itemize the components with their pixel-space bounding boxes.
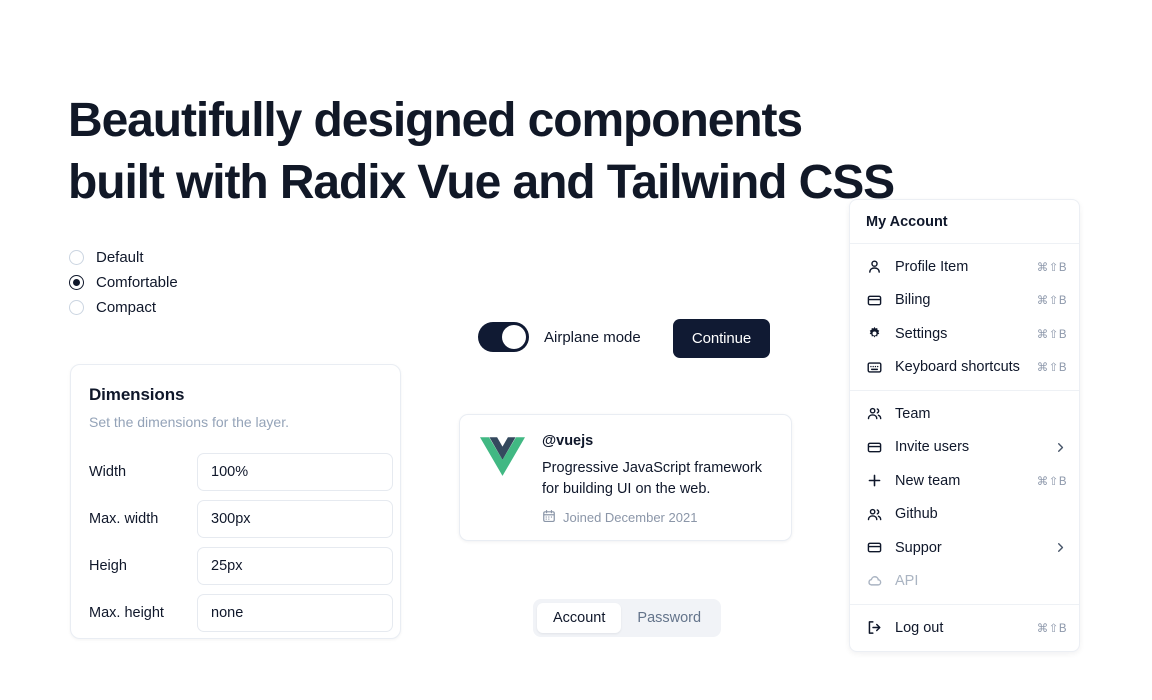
radio-option-comfortable[interactable]: Comfortable	[69, 270, 299, 295]
vue-hover-card: @vuejs Progressive JavaScript framework …	[459, 414, 792, 541]
hover-card-body: @vuejs Progressive JavaScript framework …	[542, 433, 782, 540]
menu-item-profile[interactable]: Profile Item ⌘⇧B	[850, 250, 1079, 284]
menu-item-github[interactable]: Github	[850, 498, 1079, 532]
settings-tabs: Account Password	[533, 599, 721, 637]
page-title: Beautifully designed components built wi…	[68, 90, 1028, 214]
users-icon	[866, 405, 883, 422]
tab-password[interactable]: Password	[621, 603, 717, 633]
field-label-height: Heigh	[89, 558, 197, 574]
vue-joined-row: Joined December 2021	[542, 509, 782, 526]
credit-card-icon	[866, 292, 883, 309]
menu-item-new-team[interactable]: New team ⌘⇧B	[850, 464, 1079, 498]
field-label-width: Width	[89, 464, 197, 480]
keyboard-icon	[866, 359, 883, 376]
radio-label-comfortable: Comfortable	[96, 274, 178, 291]
menu-item-settings-shortcut: ⌘⇧B	[1037, 327, 1067, 341]
menu-item-settings-label: Settings	[895, 326, 1037, 342]
menu-item-profile-shortcut: ⌘⇧B	[1037, 260, 1067, 274]
menu-item-log-out[interactable]: Log out ⌘⇧B	[850, 611, 1079, 645]
credit-card-icon	[866, 439, 883, 456]
page-title-line-1: Beautifully designed components	[68, 90, 1028, 152]
radio-indicator-compact[interactable]	[69, 300, 84, 315]
menu-header: My Account	[850, 200, 1079, 243]
radio-label-compact: Compact	[96, 299, 156, 316]
switch-knob	[502, 325, 526, 349]
menu-item-support-label: Suppor	[895, 540, 1054, 556]
menu-item-invite-users-label: Invite users	[895, 439, 1054, 455]
radio-indicator-default[interactable]	[69, 250, 84, 265]
vue-joined-text: Joined December 2021	[563, 510, 697, 525]
menu-group-team: Team Invite users New team ⌘⇧B	[850, 391, 1079, 604]
logout-icon	[866, 619, 883, 636]
menu-item-invite-users[interactable]: Invite users	[850, 431, 1079, 465]
menu-item-keyboard-shortcuts-shortcut: ⌘⇧B	[1037, 360, 1067, 374]
menu-item-new-team-label: New team	[895, 473, 1037, 489]
gear-icon	[866, 325, 883, 342]
field-row-max-height: Max. height	[89, 589, 382, 636]
vue-description: Progressive JavaScript framework for bui…	[542, 458, 782, 500]
airplane-mode-label: Airplane mode	[544, 329, 641, 346]
menu-item-settings[interactable]: Settings ⌘⇧B	[850, 317, 1079, 351]
menu-item-team-label: Team	[895, 406, 1067, 422]
tab-account[interactable]: Account	[537, 603, 621, 633]
menu-item-team[interactable]: Team	[850, 397, 1079, 431]
width-input[interactable]	[197, 453, 393, 491]
menu-item-api: API	[850, 565, 1079, 599]
airplane-mode-switch[interactable]	[478, 322, 529, 352]
menu-item-log-out-shortcut: ⌘⇧B	[1037, 621, 1067, 635]
vue-handle: @vuejs	[542, 433, 782, 449]
menu-item-github-label: Github	[895, 506, 1067, 522]
menu-item-api-label: API	[895, 573, 1067, 589]
menu-group-account: Profile Item ⌘⇧B Biling ⌘⇧B	[850, 244, 1079, 390]
max-height-input[interactable]	[197, 594, 393, 632]
menu-item-keyboard-shortcuts-label: Keyboard shortcuts	[895, 359, 1037, 375]
airplane-mode-row: Airplane mode	[478, 322, 641, 352]
menu-item-new-team-shortcut: ⌘⇧B	[1037, 474, 1067, 488]
radio-indicator-comfortable[interactable]	[69, 275, 84, 290]
vue-logo-icon	[480, 437, 525, 477]
menu-item-log-out-label: Log out	[895, 620, 1037, 636]
chevron-right-icon	[1054, 541, 1067, 554]
plus-icon	[866, 472, 883, 489]
dimensions-description: Set the dimensions for the layer.	[89, 414, 382, 430]
menu-item-keyboard-shortcuts[interactable]: Keyboard shortcuts ⌘⇧B	[850, 351, 1079, 385]
continue-button[interactable]: Continue	[673, 319, 770, 358]
calendar-icon	[542, 509, 563, 526]
menu-item-billing-shortcut: ⌘⇧B	[1037, 293, 1067, 307]
menu-group-session: Log out ⌘⇧B	[850, 605, 1079, 651]
dimensions-title: Dimensions	[89, 385, 382, 405]
field-label-max-height: Max. height	[89, 605, 197, 621]
radio-group: Default Comfortable Compact	[69, 245, 299, 320]
field-row-height: Heigh	[89, 542, 382, 589]
user-icon	[866, 258, 883, 275]
max-width-input[interactable]	[197, 500, 393, 538]
page-root: Beautifully designed components built wi…	[0, 0, 1152, 700]
credit-card-icon	[866, 539, 883, 556]
field-row-width: Width	[89, 448, 382, 495]
dimensions-card: Dimensions Set the dimensions for the la…	[70, 364, 401, 639]
users-icon	[866, 506, 883, 523]
radio-label-default: Default	[96, 249, 144, 266]
account-dropdown-menu: My Account Profile Item ⌘⇧B Biling	[849, 199, 1080, 652]
menu-item-billing-label: Biling	[895, 292, 1037, 308]
menu-item-support[interactable]: Suppor	[850, 531, 1079, 565]
menu-item-billing[interactable]: Biling ⌘⇧B	[850, 284, 1079, 318]
chevron-right-icon	[1054, 441, 1067, 454]
radio-option-compact[interactable]: Compact	[69, 295, 299, 320]
dimensions-fields: Width Max. width Heigh Max. height	[89, 448, 382, 636]
field-row-max-width: Max. width	[89, 495, 382, 542]
cloud-icon	[866, 573, 883, 590]
radio-option-default[interactable]: Default	[69, 245, 299, 270]
field-label-max-width: Max. width	[89, 511, 197, 527]
menu-item-profile-label: Profile Item	[895, 259, 1037, 275]
height-input[interactable]	[197, 547, 393, 585]
